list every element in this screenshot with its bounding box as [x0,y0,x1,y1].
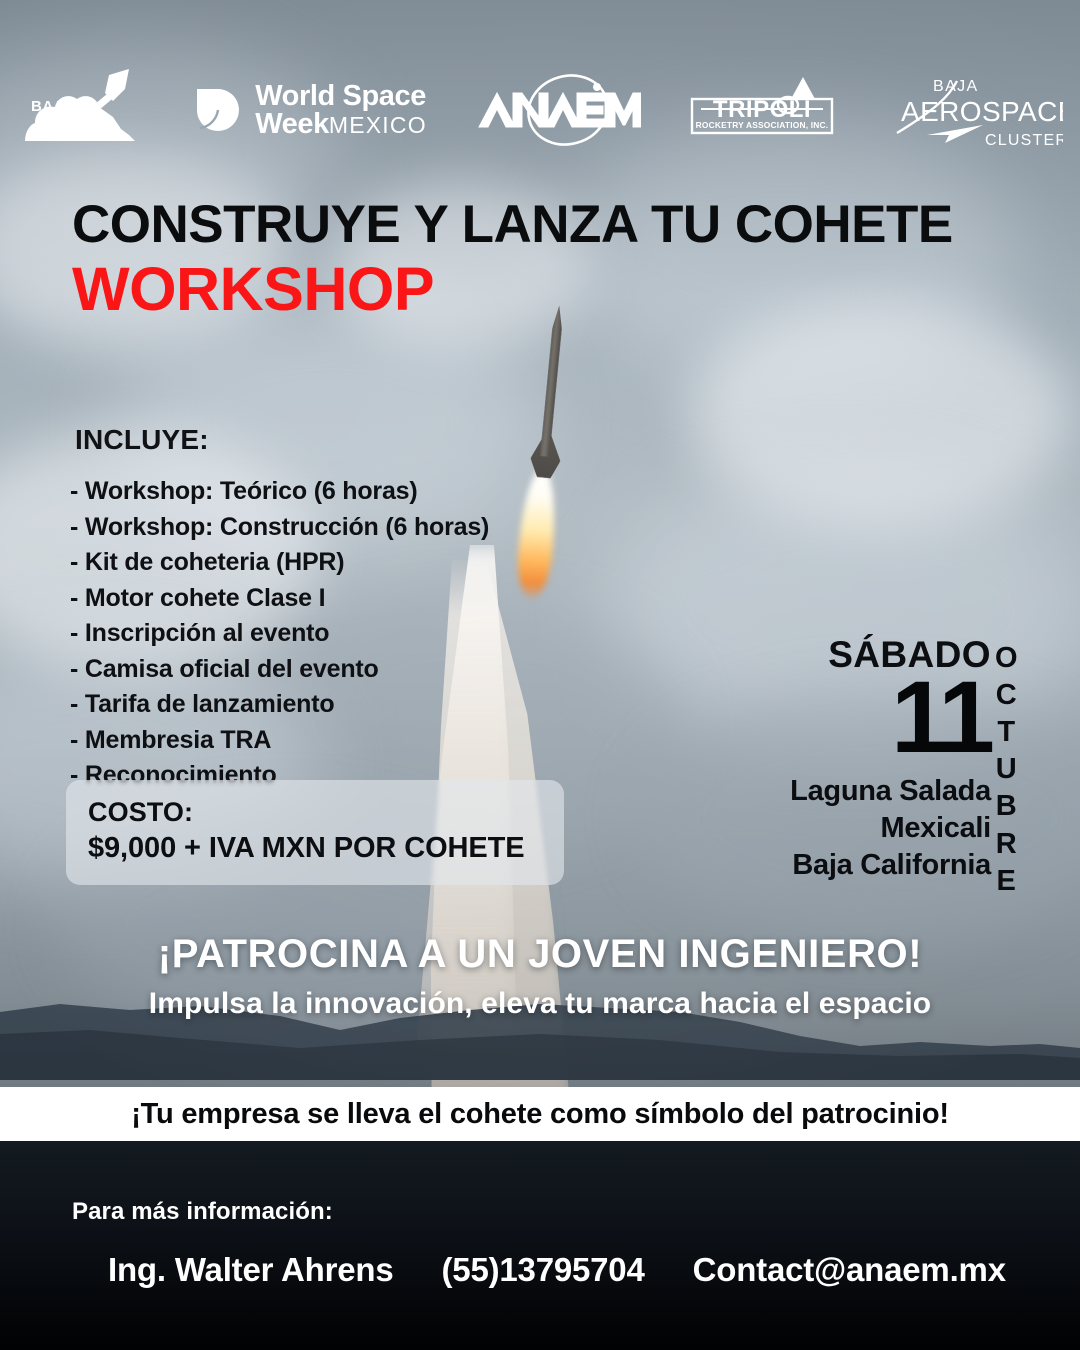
event-day: 11 [790,675,991,761]
month-letter: O [995,640,1018,677]
month-letter: U [996,751,1017,788]
wsw-line-2: Week [255,108,329,140]
event-date-location: SÁBADO 11 Laguna Salada Mexicali Baja Ca… [790,636,1018,900]
contact-row: Ing. Walter Ahrens (55)13795704 Contact@… [108,1251,1006,1289]
list-item: - Workshop: Teórico (6 horas) [70,474,590,510]
includes-title: INCLUYE: [70,424,590,456]
svg-text:BAJA: BAJA [933,78,979,95]
includes-section: INCLUYE: - Workshop: Teórico (6 horas) -… [70,424,590,794]
event-date: SÁBADO 11 Laguna Salada Mexicali Baja Ca… [790,636,991,884]
contact-email[interactable]: Contact@anaem.mx [693,1251,1006,1289]
location-line: Laguna Salada [790,773,991,810]
svg-text:AEROSPACE: AEROSPACE [901,96,1063,127]
svg-text:CLUSTER: CLUSTER [985,132,1063,149]
sponsor-callout: ¡PATROCINA A UN JOVEN INGENIERO! Impulsa… [0,932,1080,1021]
baja-rocket-science-logo: BAJA ROCKET SCIENCE [17,67,149,153]
sponsor-logo-bar: BAJA ROCKET SCIENCE World Space [0,62,1080,158]
list-item: - Tarifa de lanzamiento [70,687,590,723]
baja-aerospace-cluster-logo: BAJA AEROSPACE CLUSTER [883,69,1063,151]
svg-text:SCIENCE: SCIENCE [49,126,120,143]
sponsorship-banner: ¡Tu empresa se lleva el cohete como símb… [0,1087,1080,1141]
list-item: - Workshop: Construcción (6 horas) [70,510,590,546]
list-item: - Inscripción al evento [70,616,590,652]
wsw-line-1: World Space [255,82,427,110]
month-letter: R [996,826,1017,863]
headline-line-2: WORKSHOP [72,255,1032,323]
wsw-country: MEXICO [329,112,427,138]
poster-root: BAJA ROCKET SCIENCE World Space [0,0,1080,1350]
contact-person: Ing. Walter Ahrens [108,1251,394,1289]
month-letter: B [996,788,1017,825]
world-space-week-logo: World Space WeekMEXICO [195,82,427,139]
contact-phone[interactable]: (55)13795704 [442,1251,645,1289]
month-letter: C [996,677,1017,714]
month-letter: T [997,714,1015,751]
list-item: - Kit de coheteria (HPR) [70,545,590,581]
location-line: Mexicali [790,810,991,847]
month-letter: E [997,863,1017,900]
cost-box: COSTO: $9,000 + IVA MXN POR COHETE [66,780,564,885]
list-item: - Motor cohete Clase I [70,581,590,617]
anaem-logo [473,71,641,149]
world-space-week-wordmark: World Space WeekMEXICO [255,82,427,139]
event-month-vertical: O C T U B R E [995,636,1018,900]
list-item: - Membresia TRA [70,723,590,759]
location-line: Baja California [790,847,991,884]
contact-footer: Para más información: Ing. Walter Ahrens… [0,1141,1080,1350]
tripoli-logo: TRIPOLI ROCKETRY ASSOCIATION, INC. [687,73,837,147]
list-item: - Camisa oficial del evento [70,652,590,688]
sponsor-headline: ¡PATROCINA A UN JOVEN INGENIERO! [0,932,1080,977]
headline-line-1: CONSTRUYE Y LANZA TU COHETE [72,196,1032,253]
cost-amount: $9,000 + IVA MXN POR COHETE [88,832,542,865]
event-location: Laguna Salada Mexicali Baja California [790,773,991,884]
world-space-week-mark [195,87,241,133]
banner-text: ¡Tu empresa se lleva el cohete como símb… [131,1098,949,1131]
includes-list: - Workshop: Teórico (6 horas) - Workshop… [70,474,590,794]
contact-label: Para más información: [72,1198,333,1226]
cost-label: COSTO: [88,797,542,828]
sponsor-subline: Impulsa la innovación, eleva tu marca ha… [0,987,1080,1021]
page-title: CONSTRUYE Y LANZA TU COHETE WORKSHOP [72,196,1032,324]
svg-text:ROCKETRY ASSOCIATION, INC.: ROCKETRY ASSOCIATION, INC. [695,120,828,130]
